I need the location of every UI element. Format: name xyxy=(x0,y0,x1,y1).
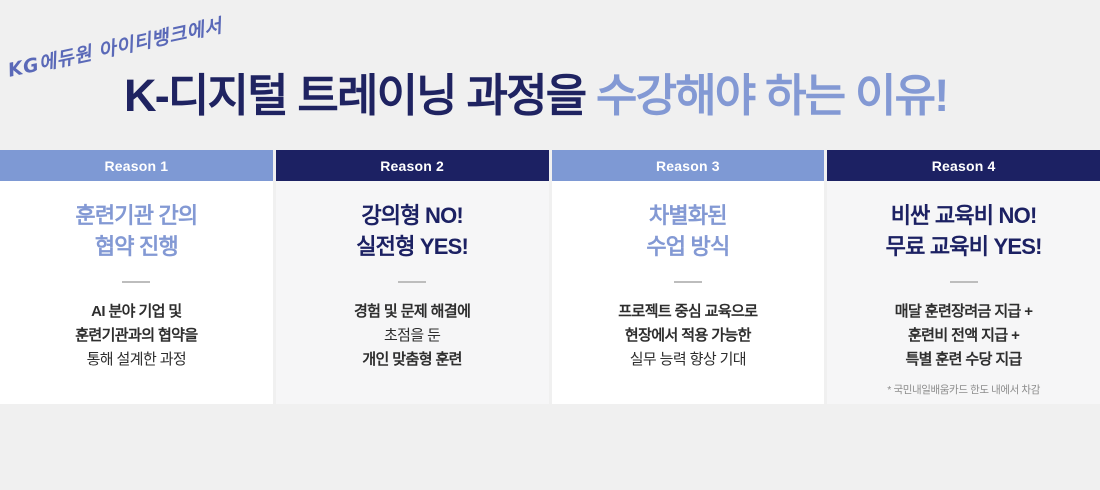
reason-card-description-line: AI 분야 기업 및 xyxy=(75,300,197,324)
reason-card-header: Reason 1 xyxy=(0,150,273,181)
reason-card-header: Reason 4 xyxy=(827,150,1100,181)
reason-card-title: 차별화된 수업 방식 xyxy=(646,200,729,262)
reason-card-body: 차별화된 수업 방식프로젝트 중심 교육으로현장에서 적용 가능한실무 능력 향… xyxy=(552,181,825,404)
reason-card-header: Reason 2 xyxy=(276,150,549,181)
reason-card-description-line: 통해 설계한 과정 xyxy=(75,348,197,372)
reason-card-body: 훈련기관 간의 협약 진행AI 분야 기업 및훈련기관과의 협약을통해 설계한 … xyxy=(0,181,273,404)
reason-card-header: Reason 3 xyxy=(552,150,825,181)
reason-card[interactable]: Reason 1훈련기관 간의 협약 진행AI 분야 기업 및훈련기관과의 협약… xyxy=(0,150,273,404)
divider xyxy=(674,281,702,283)
reason-card-description-line: 특별 훈련 수당 지급 xyxy=(895,348,1033,372)
divider xyxy=(398,281,426,283)
reason-card-description-line: 현장에서 적용 가능한 xyxy=(618,324,757,348)
divider xyxy=(950,281,978,283)
reason-card-title: 강의형 NO! 실전형 YES! xyxy=(356,200,468,262)
reason-card[interactable]: Reason 2강의형 NO! 실전형 YES!경험 및 문제 해결에초점을 둔… xyxy=(276,150,549,404)
reason-card-description-line: 훈련비 전액 지급 + xyxy=(895,324,1033,348)
reason-card[interactable]: Reason 4비싼 교육비 NO! 무료 교육비 YES!매달 훈련장려금 지… xyxy=(827,150,1100,404)
reason-card-body: 강의형 NO! 실전형 YES!경험 및 문제 해결에초점을 둔개인 맞춤형 훈… xyxy=(276,181,549,404)
reason-card-description-line: 실무 능력 향상 기대 xyxy=(618,348,757,372)
divider xyxy=(122,281,150,283)
reason-card-description-line: 초점을 둔 xyxy=(354,324,470,348)
reason-card[interactable]: Reason 3차별화된 수업 방식프로젝트 중심 교육으로현장에서 적용 가능… xyxy=(552,150,825,404)
page-title-accent: 수강해야 하는 이유! xyxy=(596,70,947,121)
reason-card-title: 훈련기관 간의 협약 진행 xyxy=(75,200,197,262)
page-title-primary: K-디지털 트레이닝 과정을 xyxy=(124,70,585,121)
reason-card-description-line: 개인 맞춤형 훈련 xyxy=(354,348,470,372)
reason-card-footnote: * 국민내일배움카드 한도 내에서 차감 xyxy=(887,382,1040,397)
reason-card-description-line: 매달 훈련장려금 지급 + xyxy=(895,300,1033,324)
reason-cards-row: Reason 1훈련기관 간의 협약 진행AI 분야 기업 및훈련기관과의 협약… xyxy=(0,150,1100,404)
reason-card-description-line: 프로젝트 중심 교육으로 xyxy=(618,300,757,324)
reason-card-description: AI 분야 기업 및훈련기관과의 협약을통해 설계한 과정 xyxy=(75,300,197,372)
reason-card-description-line: 훈련기관과의 협약을 xyxy=(75,324,197,348)
page-title: K-디지털 트레이닝 과정을 수강해야 하는 이유! xyxy=(124,68,947,124)
reason-card-description: 프로젝트 중심 교육으로현장에서 적용 가능한실무 능력 향상 기대 xyxy=(618,300,757,372)
headline-area: KG에듀원 아이티뱅크에서 K-디지털 트레이닝 과정을 수강해야 하는 이유! xyxy=(0,0,1100,150)
reason-card-description-line: 경험 및 문제 해결에 xyxy=(354,300,470,324)
reason-card-body: 비싼 교육비 NO! 무료 교육비 YES!매달 훈련장려금 지급 +훈련비 전… xyxy=(827,181,1100,404)
reason-card-title: 비싼 교육비 NO! 무료 교육비 YES! xyxy=(886,200,1042,262)
reason-card-description: 경험 및 문제 해결에초점을 둔개인 맞춤형 훈련 xyxy=(354,300,470,372)
reason-card-description: 매달 훈련장려금 지급 +훈련비 전액 지급 +특별 훈련 수당 지급 xyxy=(895,300,1033,372)
